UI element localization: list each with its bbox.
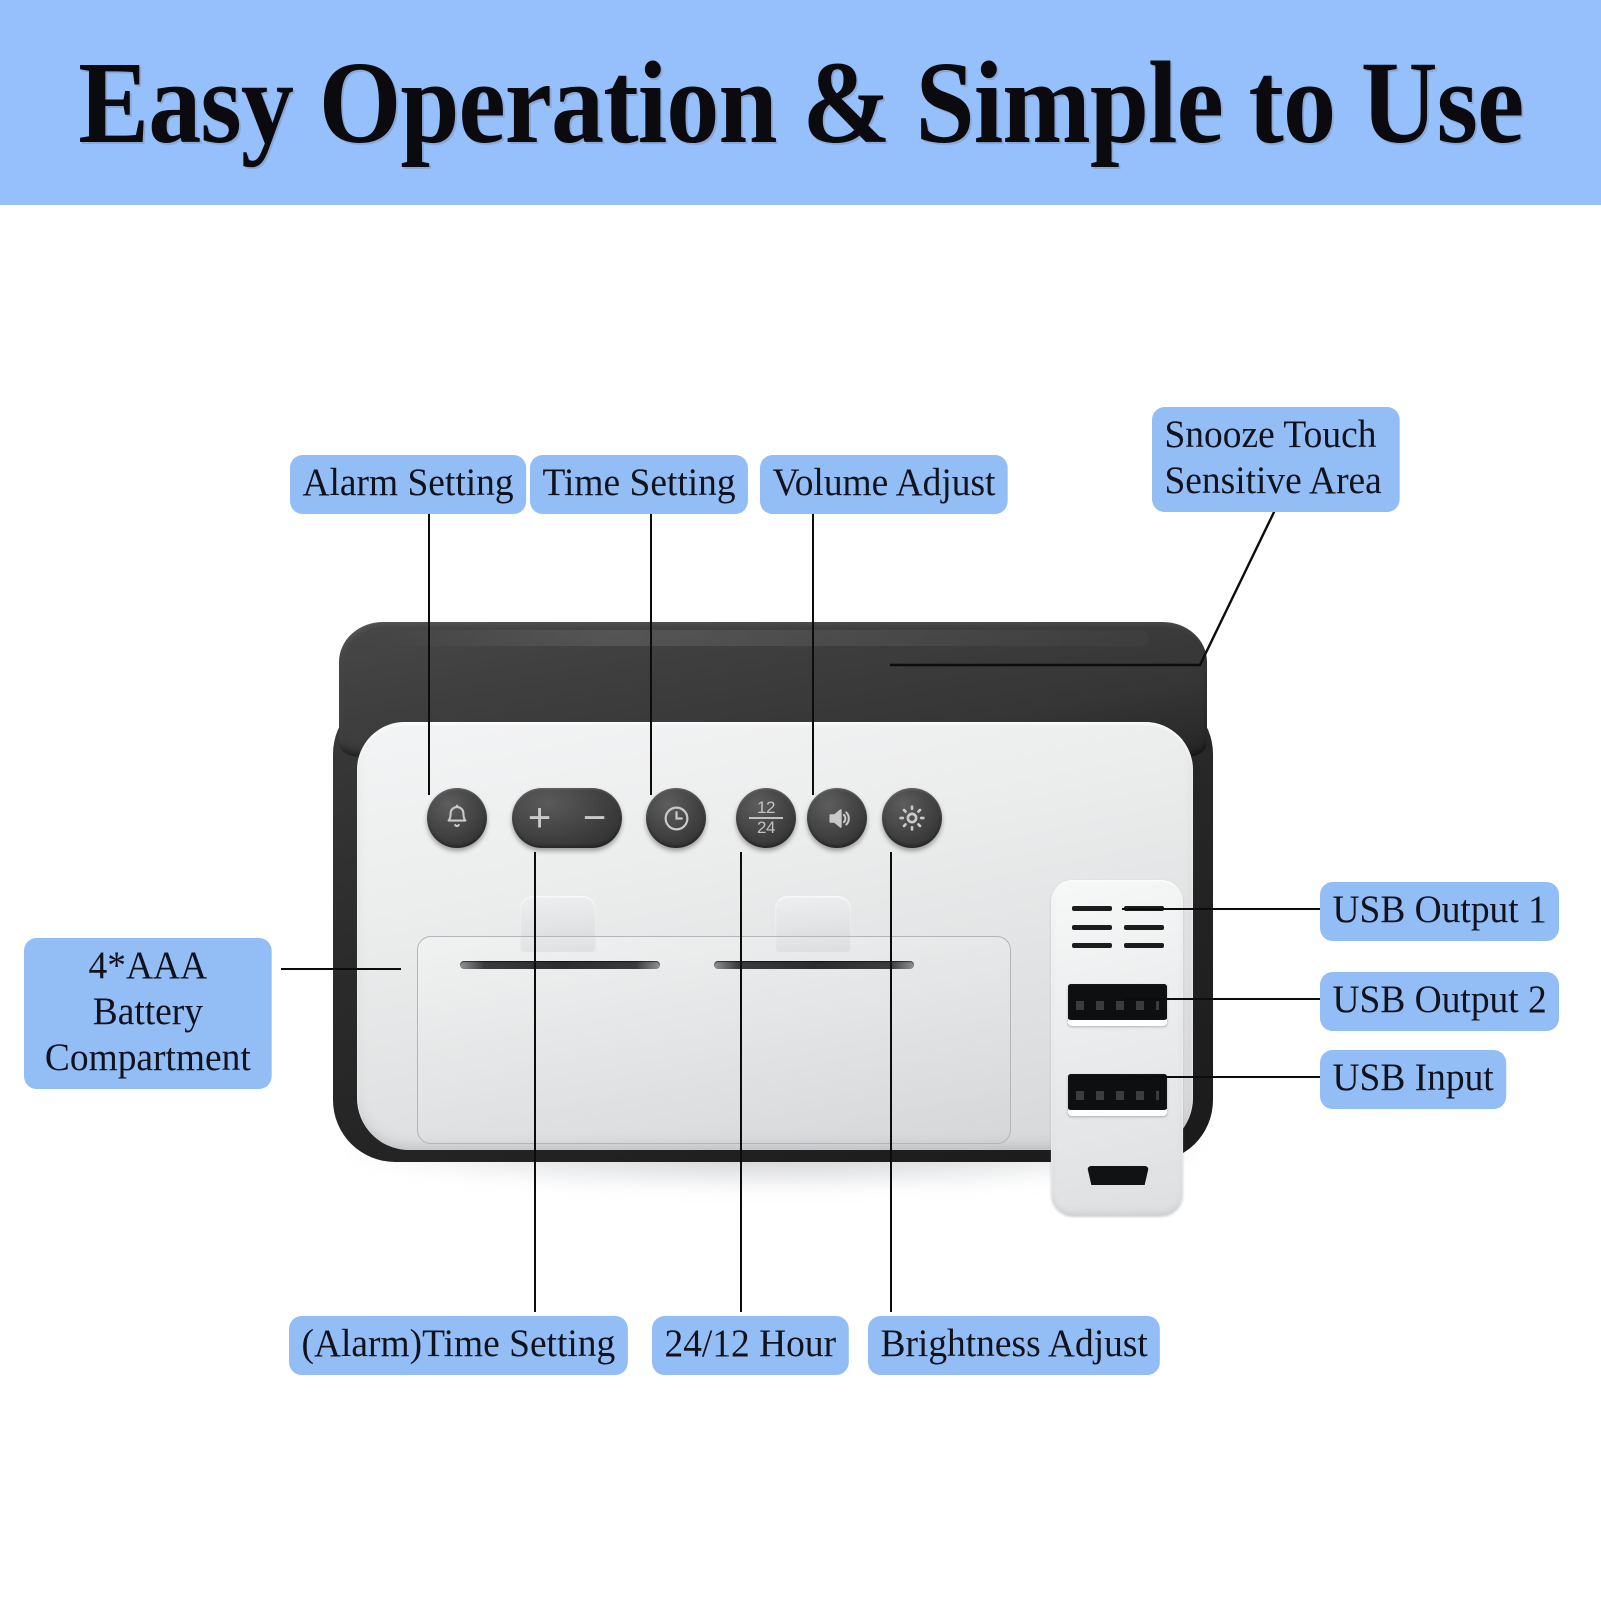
volume-button[interactable] [807,788,867,848]
port-panel [1051,880,1183,1216]
grille-slot [1124,943,1164,948]
callout-usb-output-2: USB Output 2 [1320,972,1559,1031]
grille-slot [1072,906,1112,911]
leader-line-volume-adjust [812,505,814,795]
speaker-grille-column-right [1124,906,1164,948]
callout-battery-line-1: 4*AAA Battery [36,943,259,1035]
bell-icon [442,803,472,833]
callout-snooze-line-1: Snooze Touch [1164,412,1387,458]
leader-line-usb-input [1122,1076,1320,1078]
minus-icon: − [583,798,606,838]
usb-input-port[interactable] [1087,1166,1149,1185]
leader-line-usb-output-2 [1122,998,1320,1000]
battery-compartment-door[interactable] [417,936,1011,1144]
device-front-face: + − 12 24 [357,722,1193,1150]
brightness-button[interactable] [882,788,942,848]
grille-slot [1072,925,1112,930]
callout-alarm-setting: Alarm Setting [290,455,526,514]
callout-battery-line-2: Compartment [36,1035,259,1081]
sun-icon [896,802,928,834]
page-root: Easy Operation & Simple to Use + − [0,0,1601,1601]
clock-icon [661,803,692,834]
callout-alarm-time-setting: (Alarm)Time Setting [289,1316,628,1375]
speaker-grille-column-left [1072,906,1112,948]
callout-volume-adjust: Volume Adjust [760,455,1008,514]
callout-battery-compartment: 4*AAA Battery Compartment [24,938,272,1089]
callout-hour-format: 24/12 Hour [652,1316,849,1375]
time-set-button[interactable]: + − [512,788,622,848]
page-title: Easy Operation & Simple to Use [78,44,1523,162]
hour-format-button[interactable]: 12 24 [736,788,796,848]
alarm-bell-button[interactable] [427,788,487,848]
callout-snooze-line-2: Sensitive Area [1164,458,1387,504]
leader-line-alarm-time-setting [534,852,536,1312]
leader-line-snooze [890,495,1290,695]
battery-door-slot-right [714,961,914,969]
hour-format-bottom: 24 [749,820,783,836]
clock-button[interactable] [646,788,706,848]
alarm-clock-device: + − 12 24 [333,622,1213,1180]
leader-line-battery [281,968,401,970]
callout-brightness-adjust: Brightness Adjust [868,1316,1160,1375]
speaker-icon [823,804,852,833]
callout-usb-input: USB Input [1320,1050,1506,1109]
battery-door-slot-left [460,961,660,969]
leader-line-time-setting [650,505,652,795]
plus-icon: + [528,798,551,838]
callout-usb-output-1: USB Output 1 [1320,882,1559,941]
callout-time-setting: Time Setting [530,455,748,514]
speaker-grille [1072,906,1164,948]
12-24-icon: 12 24 [749,800,783,836]
leader-line-brightness-adjust [890,852,892,1312]
usb-output-1-port[interactable] [1068,984,1167,1026]
grille-slot [1072,943,1112,948]
leader-line-hour-format [740,852,742,1312]
hour-format-top: 12 [749,800,783,816]
header-banner: Easy Operation & Simple to Use [0,0,1601,205]
leader-line-usb-output-1 [1122,908,1320,910]
usb-output-2-port[interactable] [1068,1074,1167,1116]
leader-line-alarm-setting [428,505,430,795]
usb-tongue [1076,1091,1159,1100]
grille-slot [1124,925,1164,930]
callout-snooze-touch-sensitive-area: Snooze Touch Sensitive Area [1152,407,1400,512]
usb-tongue [1076,1001,1159,1010]
